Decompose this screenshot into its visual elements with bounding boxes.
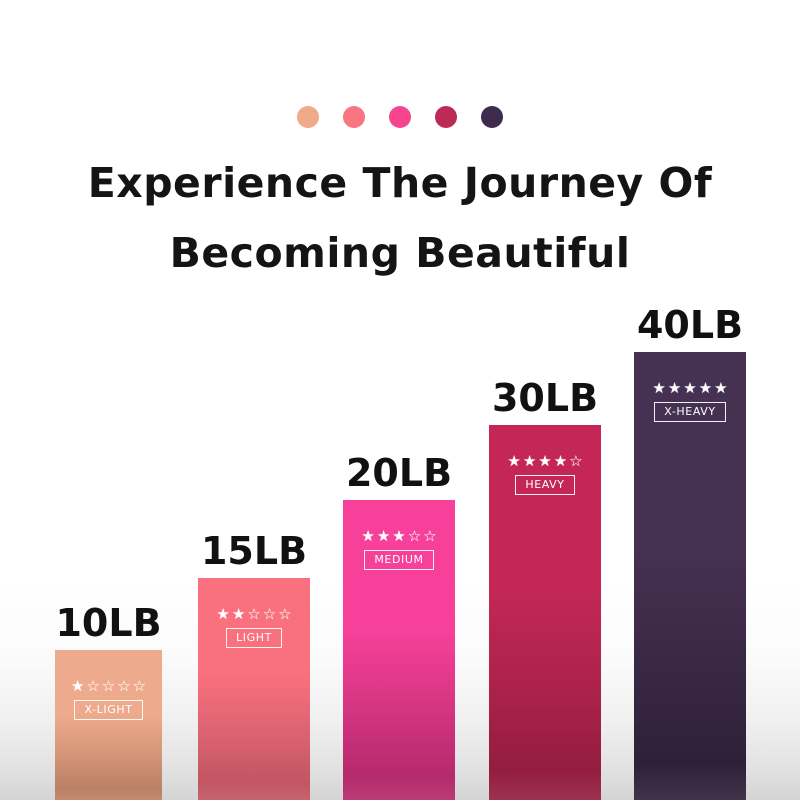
bar-group: 40LB★★★★★X-HEAVY (634, 292, 746, 800)
star-filled-icon: ★ (538, 453, 551, 469)
product-infographic: Experience The Journey Of Becoming Beaut… (0, 0, 800, 800)
weight-label-10lb: 10LB (55, 602, 161, 644)
star-empty-icon: ☆ (133, 678, 146, 694)
star-filled-icon: ★ (377, 528, 390, 544)
bar-group: 10LB★☆☆☆☆X-LIGHT (55, 588, 162, 800)
star-empty-icon: ☆ (263, 606, 276, 622)
rating-badge-10lb: ★☆☆☆☆X-LIGHT (55, 678, 162, 720)
resistance-tag: LIGHT (226, 628, 282, 648)
rating-badge-15lb: ★★☆☆☆LIGHT (198, 606, 310, 648)
rating-badge-20lb: ★★★☆☆MEDIUM (343, 528, 455, 570)
bar-group: 30LB★★★★☆HEAVY (489, 365, 601, 800)
star-empty-icon: ☆ (278, 606, 291, 622)
bar-group: 20LB★★★☆☆MEDIUM (343, 440, 455, 800)
rating-badge-40lb: ★★★★★X-HEAVY (634, 380, 746, 422)
star-filled-icon: ★ (507, 453, 520, 469)
star-filled-icon: ★ (361, 528, 374, 544)
star-empty-icon: ☆ (408, 528, 421, 544)
star-filled-icon: ★ (668, 380, 681, 396)
bar-bottom-fade (55, 650, 162, 800)
star-empty-icon: ☆ (102, 678, 115, 694)
star-filled-icon: ★ (683, 380, 696, 396)
weight-label-30lb: 30LB (492, 377, 598, 419)
resistance-tag: X-LIGHT (74, 700, 142, 720)
weight-label-20lb: 20LB (346, 452, 452, 494)
star-filled-icon: ★ (71, 678, 84, 694)
star-filled-icon: ★ (714, 380, 727, 396)
star-filled-icon: ★ (392, 528, 405, 544)
star-filled-icon: ★ (554, 453, 567, 469)
bar-10lb[interactable] (55, 650, 162, 800)
star-rating: ★★☆☆☆ (216, 606, 291, 622)
star-filled-icon: ★ (216, 606, 229, 622)
star-empty-icon: ☆ (86, 678, 99, 694)
star-filled-icon: ★ (232, 606, 245, 622)
star-empty-icon: ☆ (247, 606, 260, 622)
bar-group: 15LB★★☆☆☆LIGHT (198, 518, 310, 800)
star-filled-icon: ★ (699, 380, 712, 396)
star-rating: ★★★☆☆ (361, 528, 436, 544)
resistance-tag: X-HEAVY (654, 402, 725, 422)
resistance-bar-chart: 10LB★☆☆☆☆X-LIGHT15LB★★☆☆☆LIGHT20LB★★★☆☆M… (0, 0, 800, 800)
rating-badge-30lb: ★★★★☆HEAVY (489, 453, 601, 495)
star-filled-icon: ★ (652, 380, 665, 396)
star-rating: ★★★★☆ (507, 453, 582, 469)
star-rating: ★★★★★ (652, 380, 727, 396)
star-filled-icon: ★ (523, 453, 536, 469)
star-empty-icon: ☆ (569, 453, 582, 469)
resistance-tag: MEDIUM (364, 550, 433, 570)
weight-label-40lb: 40LB (637, 304, 743, 346)
star-rating: ★☆☆☆☆ (71, 678, 146, 694)
star-empty-icon: ☆ (117, 678, 130, 694)
resistance-tag: HEAVY (515, 475, 574, 495)
weight-label-15lb: 15LB (201, 530, 307, 572)
star-empty-icon: ☆ (423, 528, 436, 544)
